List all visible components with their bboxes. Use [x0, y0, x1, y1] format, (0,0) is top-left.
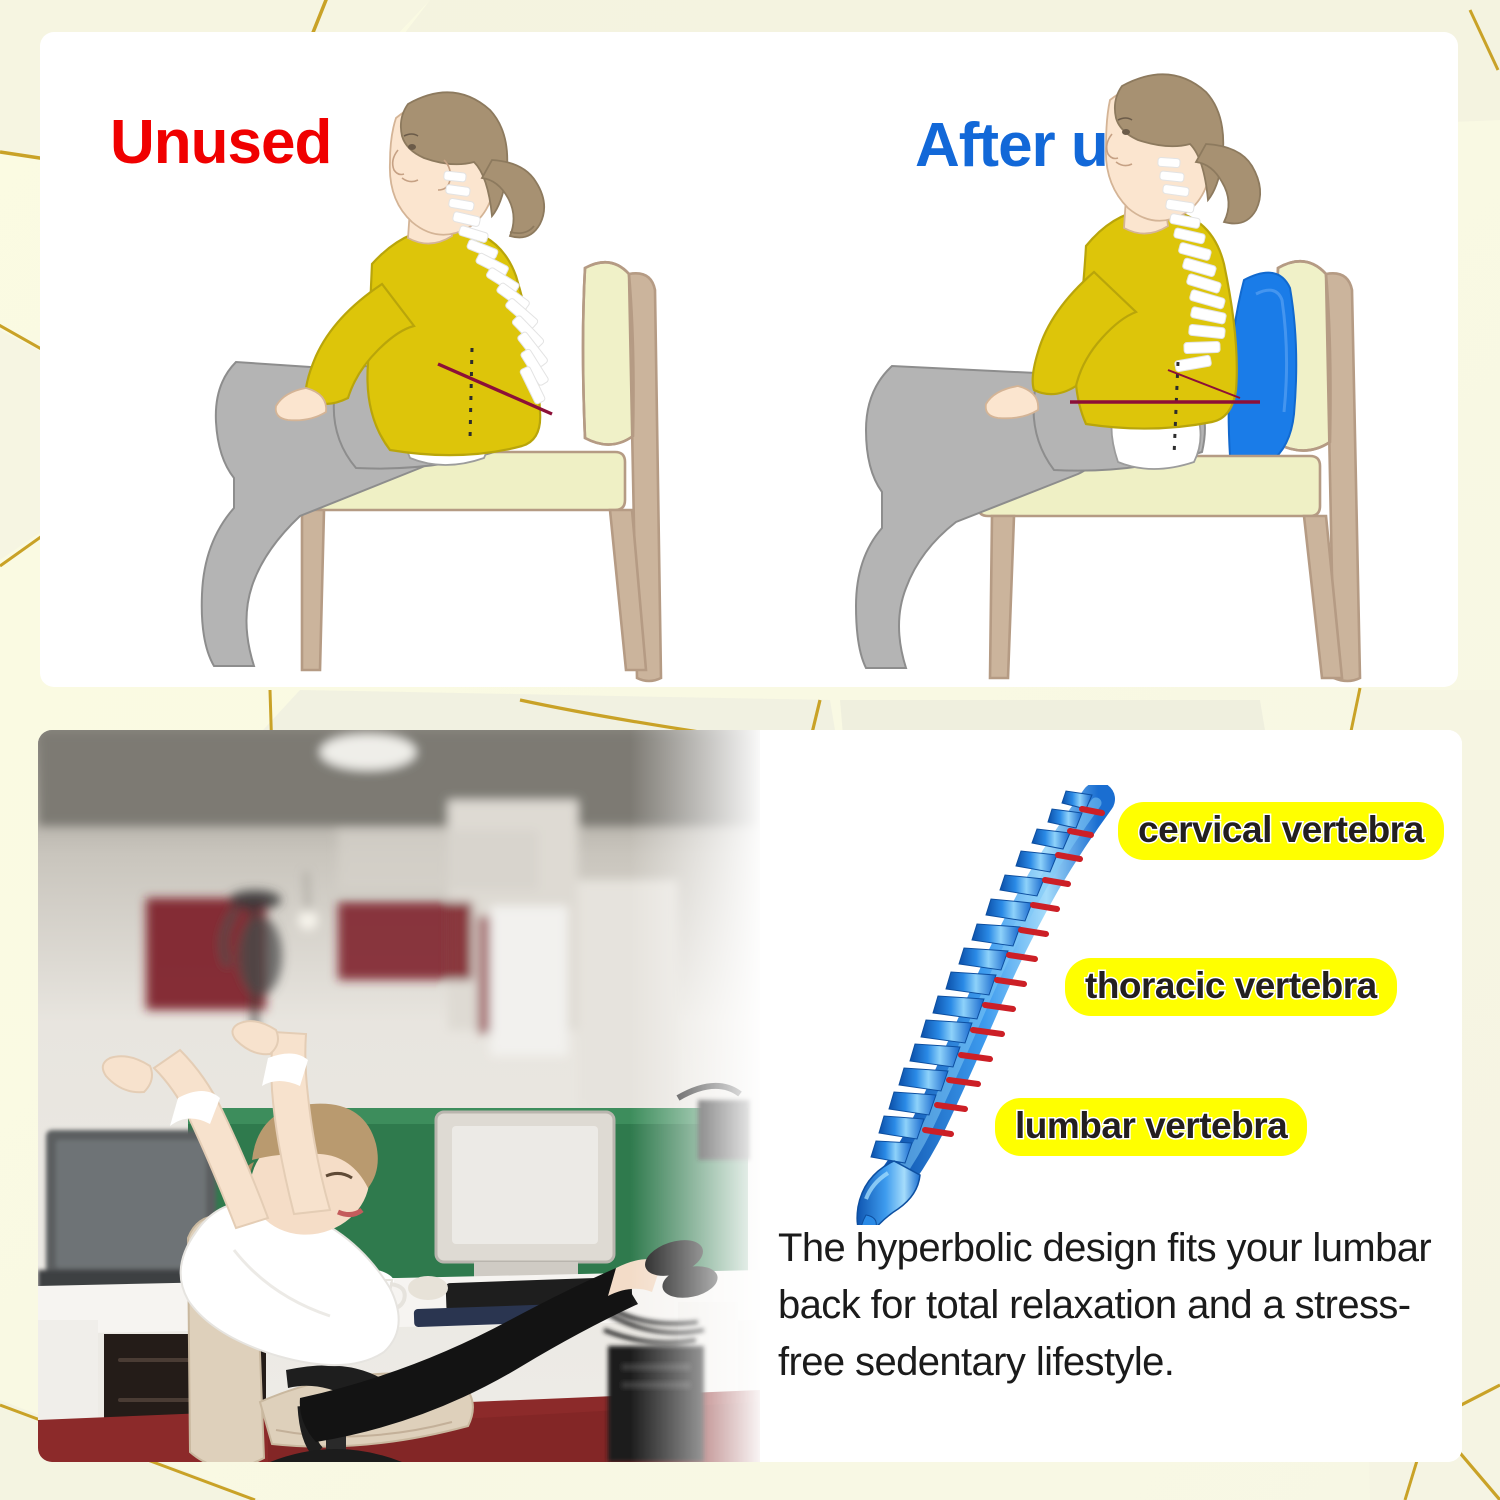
- woman-slouched-on-chair-illustration: [40, 32, 770, 687]
- product-feature-infographic: Unused: [0, 0, 1500, 1500]
- badge-cervical-vertebra: cervical vertebra: [1118, 802, 1444, 860]
- badge-lumbar-vertebra: lumbar vertebra: [995, 1098, 1307, 1156]
- comparison-panel: Unused: [40, 32, 1458, 687]
- feature-description: The hyperbolic design fits your lumbar b…: [778, 1220, 1462, 1390]
- comparison-left-unused: Unused: [40, 32, 770, 687]
- comparison-right-after-use: After use: [770, 32, 1458, 687]
- spine-info-pane: cervical vertebra thoracic vertebra lumb…: [760, 730, 1462, 1462]
- office-worker-stretching-photo: [38, 730, 760, 1462]
- woman-upright-on-chair-with-cushion-illustration: [770, 32, 1458, 687]
- badge-thoracic-vertebra: thoracic vertebra: [1065, 958, 1397, 1016]
- lifestyle-panel: cervical vertebra thoracic vertebra lumb…: [38, 730, 1462, 1462]
